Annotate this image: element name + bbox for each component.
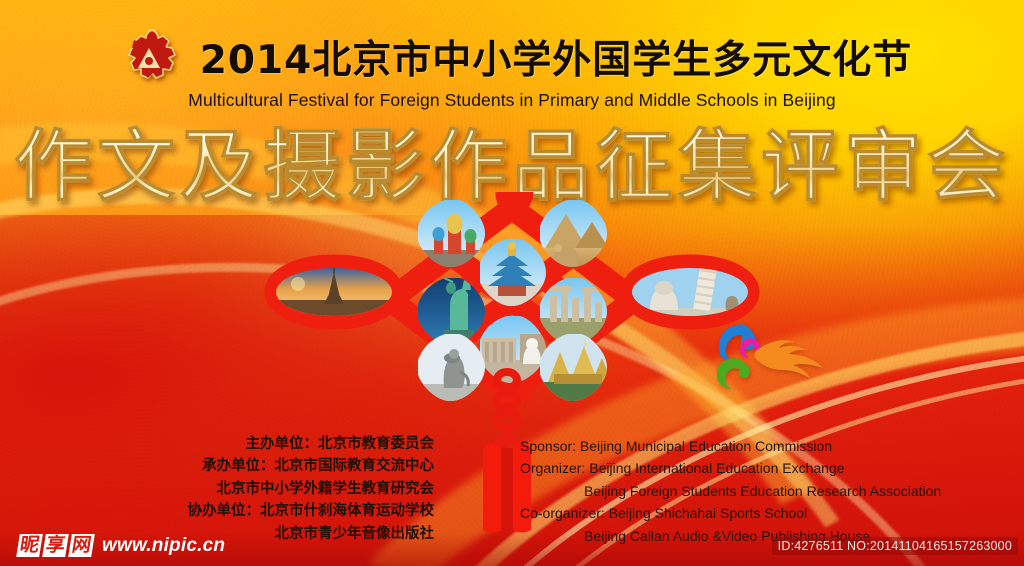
credit-cn-0: 主办单位：北京市教育委员会 [104,433,434,455]
credit-cn-3: 协办单位：北京市什刹海体育运动学校 [104,500,434,522]
credit-cn-2: 北京市中小学外籍学生教育研究会 [104,478,434,500]
photo-grand-palace [540,334,612,402]
watermark-logo-char-0: 昵 [16,534,43,557]
credits-chinese: 主办单位：北京市教育委员会 承办单位：北京市国际教育交流中心 北京市中小学外籍学… [104,433,434,545]
photo-temple-of-heaven [480,239,550,310]
festival-emblem-icon [112,26,186,88]
image-id-tag: ID:4276511 NO:20141104165157263000 [772,537,1018,555]
credit-en-2: Beijing Foreign Students Education Resea… [520,480,960,502]
poster-header: 2014北京市中小学外国学生多元文化节 Multicultural Festiv… [0,26,1024,111]
credit-en-0: Sponsor: Beijing Municipal Education Com… [520,435,960,457]
phoenix-swirl-logo [703,312,831,392]
watermark-url[interactable]: www.nipic.cn [102,535,225,557]
watermark-logo-char-1: 享 [42,534,69,557]
credit-en-3: Co-organizer: Beijing Shichahai Sports S… [520,502,960,524]
credits-english: Sponsor: Beijing Municipal Education Com… [520,435,960,547]
header-title-en: Multicultural Festival for Foreign Stude… [0,90,1024,111]
credit-cn-1: 承办单位：北京市国际教育交流中心 [104,455,434,477]
header-title-cn: 2014北京市中小学外国学生多元文化节 [200,29,913,85]
watermark-logo-char-2: 网 [68,534,95,557]
poster-canvas: 2014北京市中小学外国学生多元文化节 Multicultural Festiv… [0,0,1024,566]
watermark-logo: 昵 享 网 [18,534,93,557]
credit-en-1: Organizer: Beijing International Educati… [520,457,960,479]
watermark: 昵 享 网 www.nipic.cn [18,534,225,557]
